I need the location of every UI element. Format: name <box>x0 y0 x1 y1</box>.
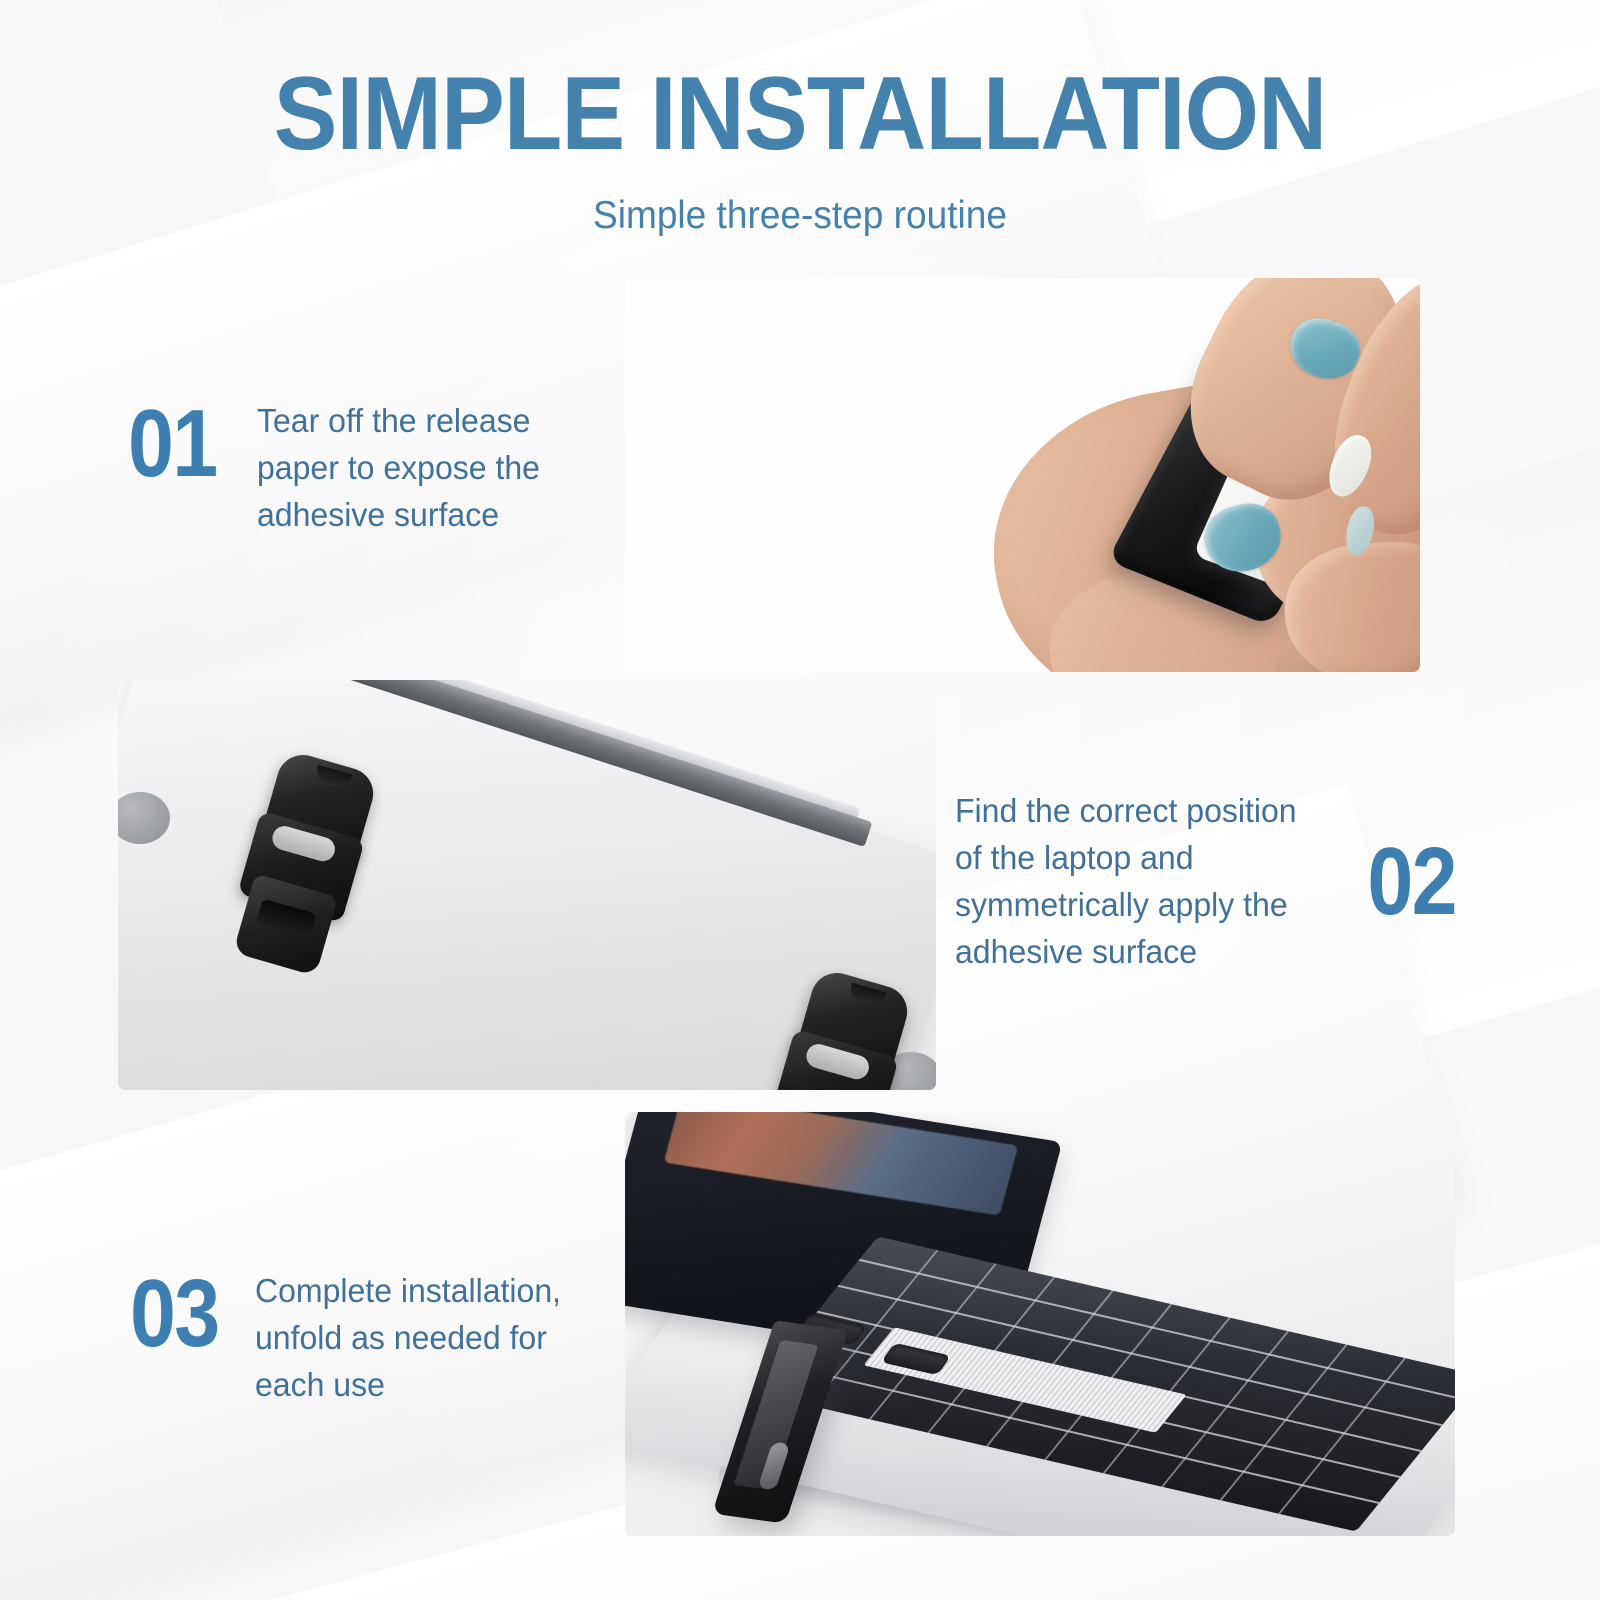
step-2-photo <box>118 680 936 1090</box>
step-1-number: 01 <box>128 398 216 490</box>
step-1-block: 01 Tear off the release paper to expose … <box>128 398 549 539</box>
step-3-block: 03 Complete installation, unfold as need… <box>130 1268 570 1409</box>
step-3-photo <box>625 1112 1455 1536</box>
stand-notch <box>848 983 887 1008</box>
infographic-page: SIMPLE INSTALLATION Simple three-step ro… <box>0 0 1600 1600</box>
stand-notch <box>314 765 353 790</box>
page-subtitle: Simple three-step routine <box>40 194 1560 238</box>
step-2-text: Find the correct position of the laptop … <box>955 788 1297 975</box>
step-1-text: Tear off the release paper to expose the… <box>257 398 540 539</box>
step-2-number: 02 <box>1368 836 1456 928</box>
step-3-number: 03 <box>130 1268 218 1360</box>
header: SIMPLE INSTALLATION Simple three-step ro… <box>0 62 1600 238</box>
step-1-photo <box>625 278 1420 672</box>
hand-peeling-release-paper-illustration <box>955 278 1420 672</box>
step-3-text: Complete installation, unfold as needed … <box>255 1268 561 1409</box>
step-2-block: Find the correct position of the laptop … <box>955 788 1456 975</box>
page-title: SIMPLE INSTALLATION <box>64 62 1536 166</box>
